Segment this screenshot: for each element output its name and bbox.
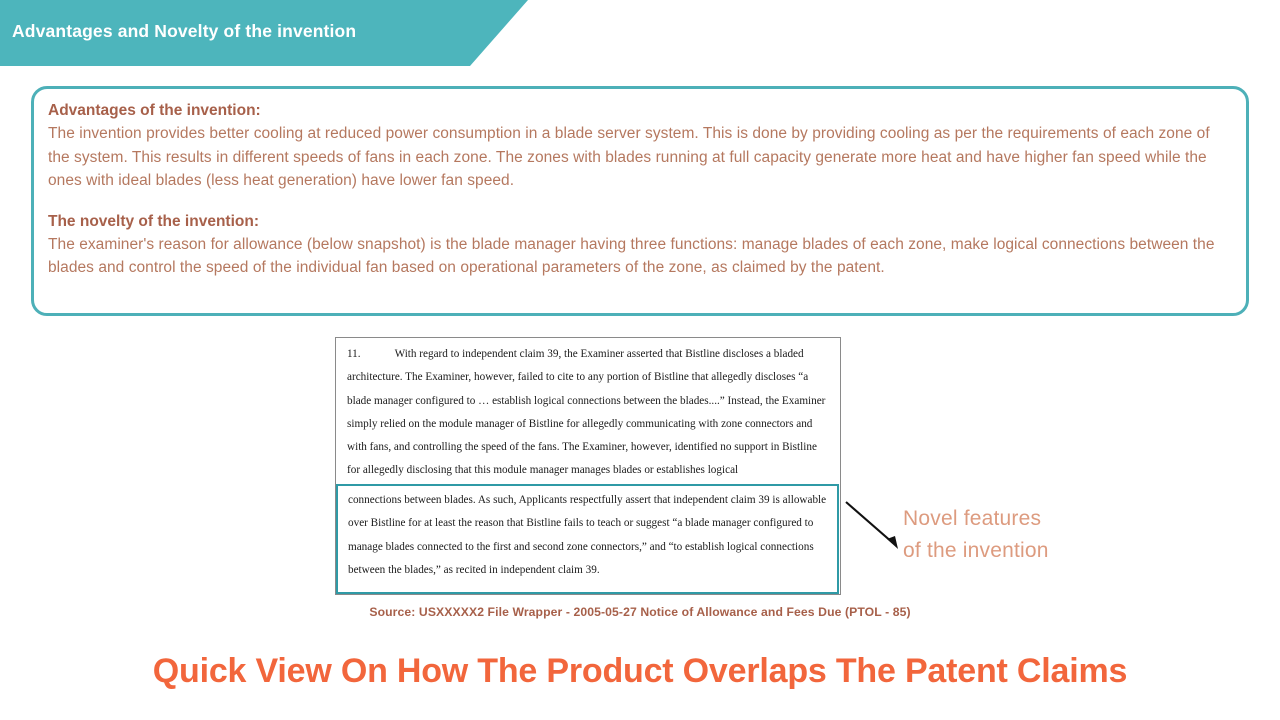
advantages-heading: Advantages of the invention:: [48, 100, 1232, 121]
advantages-body: The invention provides better cooling at…: [48, 122, 1232, 193]
document-upper-paragraph: 11.With regard to independent claim 39, …: [336, 338, 840, 483]
annotation-label: Novel features of the invention: [903, 503, 1049, 567]
document-highlighted-text: connections between blades. As such, App…: [338, 486, 837, 582]
content-card-inner: Advantages of the invention: The inventi…: [34, 89, 1246, 280]
novelty-highlight-box: connections between blades. As such, App…: [336, 484, 839, 594]
annotation-line-2: of the invention: [903, 535, 1049, 567]
document-upper-text: With regard to independent claim 39, the…: [347, 348, 825, 476]
annotation-line-1: Novel features: [903, 503, 1049, 535]
content-card: Advantages of the invention: The inventi…: [31, 86, 1249, 316]
novelty-body: The examiner's reason for allowance (bel…: [48, 233, 1232, 280]
paragraph-number: 11.: [347, 348, 361, 360]
arrow-down-right-icon: [840, 495, 910, 557]
footer-title: Quick View On How The Product Overlaps T…: [0, 652, 1280, 691]
section-gap: [48, 193, 1232, 211]
page-title: Advantages and Novelty of the invention: [12, 21, 356, 42]
source-caption: Source: USXXXXX2 File Wrapper - 2005-05-…: [0, 605, 1280, 619]
novelty-heading: The novelty of the invention:: [48, 211, 1232, 232]
